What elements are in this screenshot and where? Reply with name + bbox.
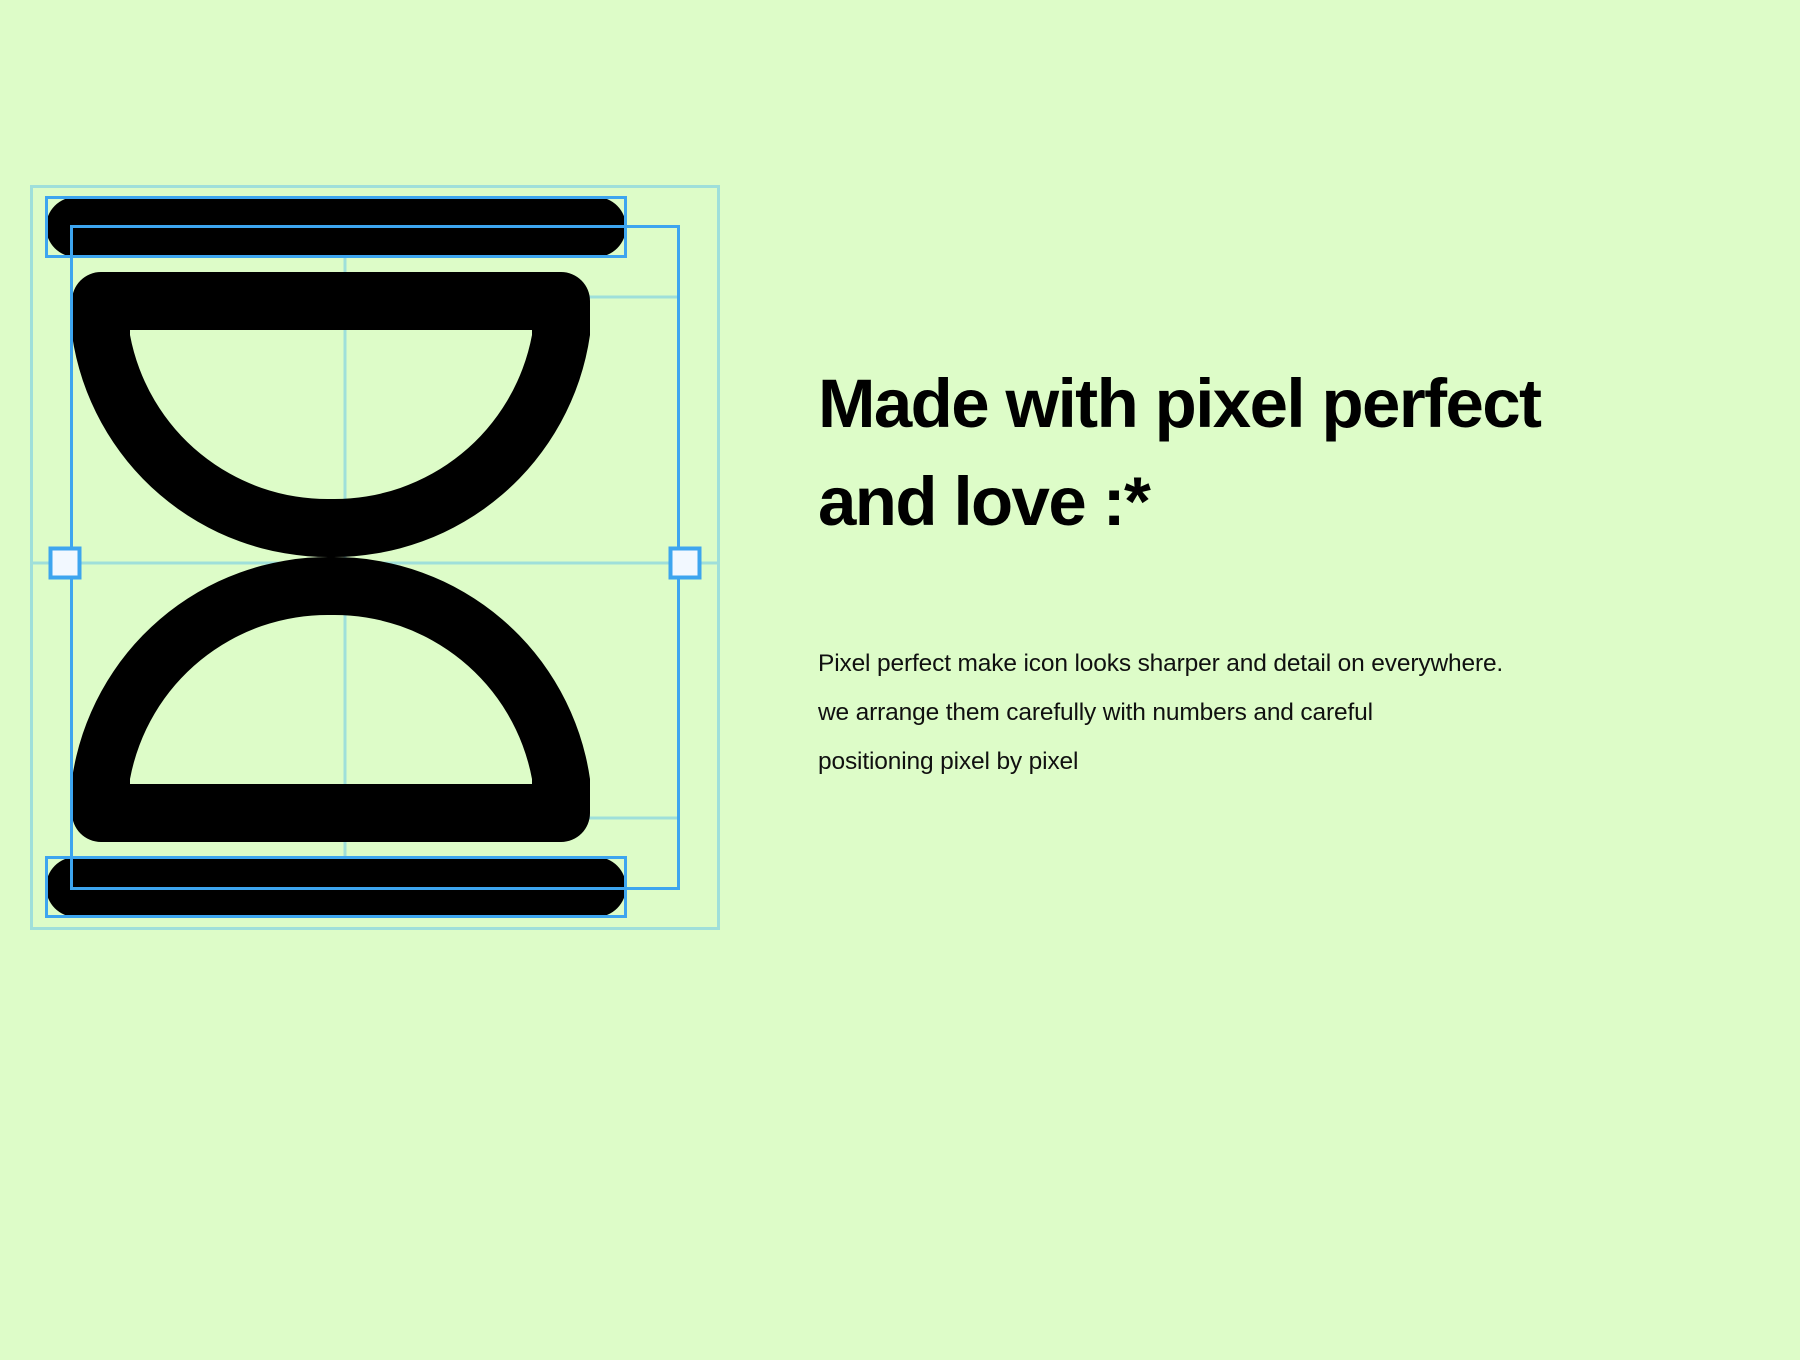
upper-bowl (72, 272, 590, 557)
page-canvas: Made with pixel perfect and love :* Pixe… (0, 0, 1800, 1360)
icon-artboard[interactable] (30, 185, 720, 930)
lower-bowl (72, 557, 590, 842)
resize-handle-left[interactable] (51, 549, 80, 578)
hourglass-glyph (46, 197, 626, 917)
hourglass-icon[interactable] (30, 185, 720, 930)
page-title: Made with pixel perfect and love :* (818, 355, 1758, 551)
resize-handle-right[interactable] (671, 549, 700, 578)
copy-column: Made with pixel perfect and love :* Pixe… (818, 355, 1758, 786)
page-description: Pixel perfect make icon looks sharper an… (818, 551, 1758, 786)
